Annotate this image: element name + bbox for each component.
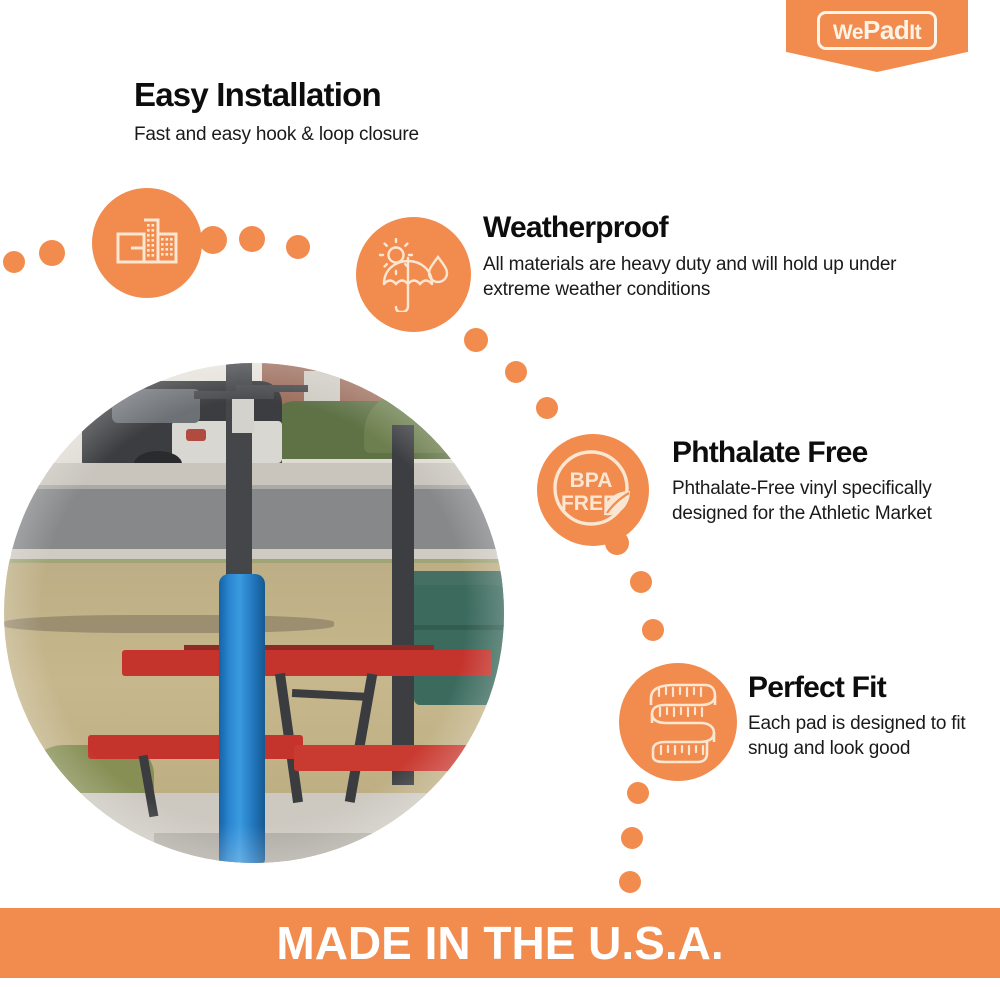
brand-logo-badge[interactable]: WePadIt: [786, 0, 968, 72]
feature-block-easy-installation: Easy Installation Fast and easy hook & l…: [134, 78, 554, 147]
made-in-usa-text: MADE IN THE U.S.A.: [276, 920, 723, 966]
trail-dot: [630, 571, 652, 593]
trail-dot: [39, 240, 65, 266]
photo-edge-fade: [4, 363, 504, 863]
bpa-free-leaf-icon: BPA FREE: [537, 434, 649, 546]
hook-and-loop-icon: [92, 188, 202, 298]
trail-dot: [536, 397, 558, 419]
trail-dot: [199, 226, 227, 254]
feature-block-weatherproof: Weatherproof All materials are heavy dut…: [483, 212, 903, 302]
feature-title-perfect-fit: Perfect Fit: [748, 672, 998, 704]
feature-block-phthalate-free: Phthalate Free Phthalate-Free vinyl spec…: [672, 437, 982, 526]
brand-logo-frame: WePadIt: [817, 11, 937, 50]
feature-title-phthalate-free: Phthalate Free: [672, 437, 982, 469]
trail-dot: [464, 328, 488, 352]
feature-description-easy-installation: Fast and easy hook & loop closure: [134, 122, 554, 147]
logo-text-pad: Pad: [863, 15, 909, 45]
trail-dot: [621, 827, 643, 849]
logo-text-it: It: [909, 21, 921, 44]
feature-title-easy-installation: Easy Installation: [134, 78, 554, 113]
trail-dot: [619, 871, 641, 893]
feature-description-weatherproof: All materials are heavy duty and will ho…: [483, 252, 903, 303]
sun-umbrella-raindrop-icon: [356, 217, 471, 332]
product-photo: [4, 363, 504, 863]
bpa-icon-text-line1: BPA: [570, 469, 613, 492]
trail-dot: [505, 361, 527, 383]
made-in-usa-banner: MADE IN THE U.S.A.: [0, 908, 1000, 978]
logo-text-we: We: [833, 21, 863, 44]
feature-description-phthalate-free: Phthalate-Free vinyl specifically design…: [672, 476, 982, 527]
feature-title-weatherproof: Weatherproof: [483, 212, 903, 244]
trail-dot: [627, 782, 649, 804]
trail-dot: [642, 619, 664, 641]
measuring-tape-icon: [619, 663, 737, 781]
feature-description-perfect-fit: Each pad is designed to fit snug and loo…: [748, 711, 998, 762]
trail-dot: [239, 226, 265, 252]
trail-dot: [3, 251, 25, 273]
feature-block-perfect-fit: Perfect Fit Each pad is designed to fit …: [748, 672, 998, 761]
trail-dot: [286, 235, 310, 259]
